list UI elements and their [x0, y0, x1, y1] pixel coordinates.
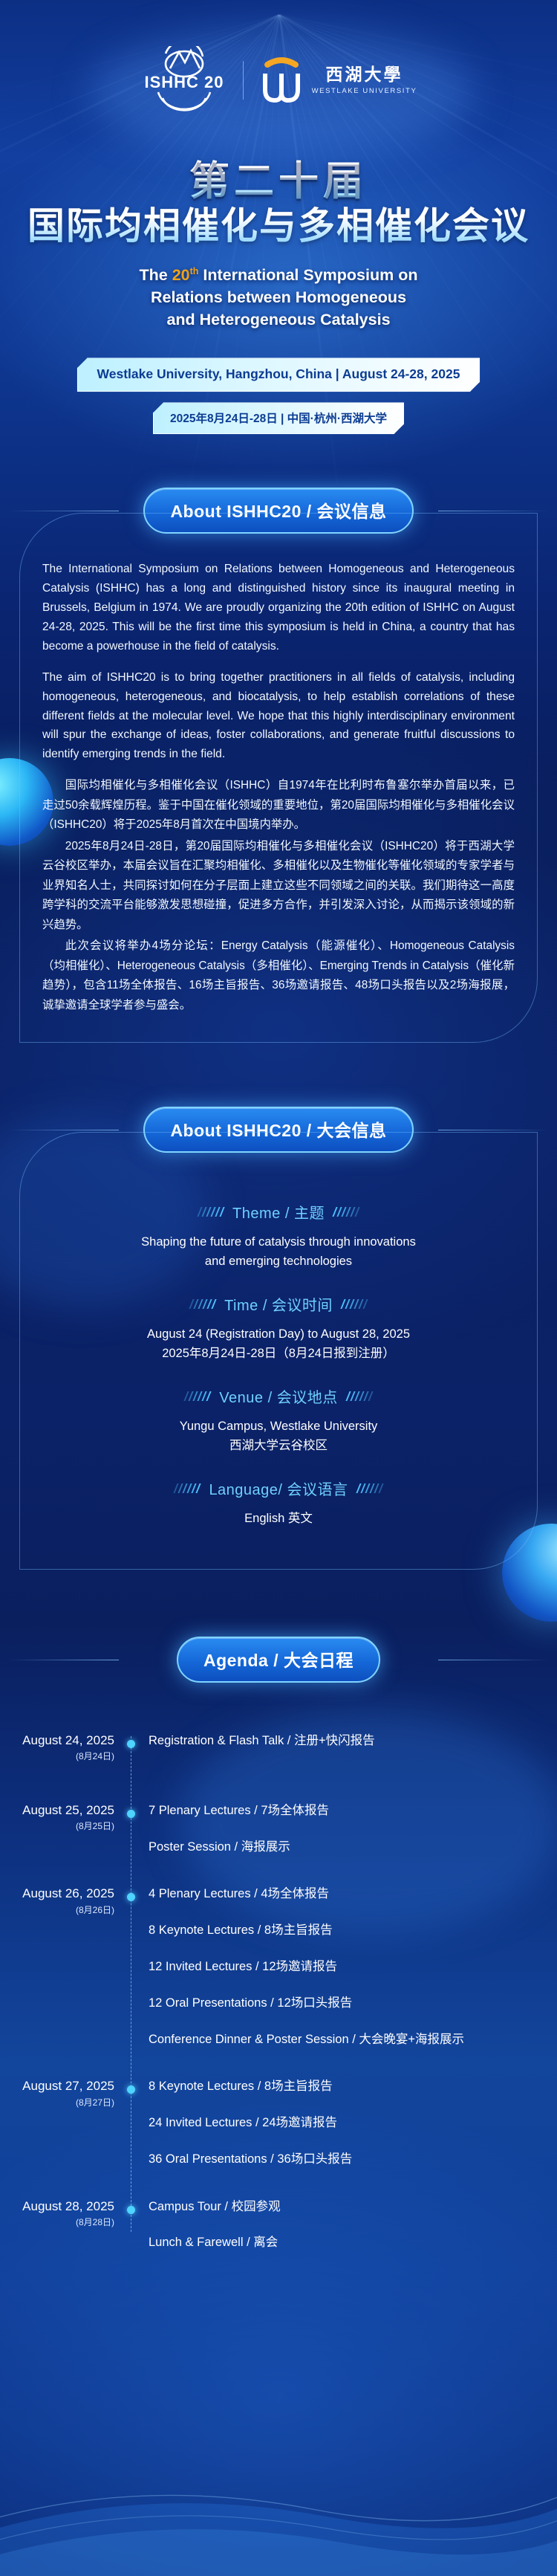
agenda-timeline: August 24, 2025(8月24日)Registration & Fla…: [18, 1723, 539, 2251]
about-paragraph-cn-2: 2025年8月24日-28日，第20届国际均相催化与多相催化会议（ISHHC20…: [42, 837, 515, 935]
title-en-line3: and Heterogeneous Catalysis: [166, 311, 390, 329]
agenda-item: 8 Keynote Lectures / 8场主旨报告: [149, 2078, 539, 2095]
ishhc-globe-icon: ISHHC 20: [140, 46, 228, 114]
agenda-date-cn: (8月25日): [18, 1819, 114, 1832]
info-label-venue: Venue / 会议地点: [42, 1385, 515, 1407]
agenda-item: Registration & Flash Talk / 注册+快闪报告: [149, 1732, 539, 1750]
time-line1: August 24 (Registration Day) to August 2…: [147, 1327, 410, 1341]
info-block-theme: Theme / 主题 Shaping the future of catalys…: [42, 1201, 515, 1271]
info-label-text: Theme / 主题: [232, 1201, 325, 1223]
agenda-item: Conference Dinner & Poster Session / 大会晚…: [149, 2031, 539, 2048]
agenda-date-en: August 27, 2025: [18, 2079, 114, 2094]
agenda-date-cn: (8月28日): [18, 2216, 114, 2228]
conference-info-card: Theme / 主题 Shaping the future of catalys…: [19, 1132, 538, 1570]
info-label-text: Venue / 会议地点: [219, 1385, 337, 1407]
about-paragraph-cn-3: 此次会议将举办4场分论坛：Energy Catalysis（能源催化）、Homo…: [42, 936, 515, 1015]
agenda-section: Agenda / 大会日程 August 24, 2025(8月24日)Regi…: [0, 1637, 557, 2370]
slash-ornament-right: [358, 1483, 382, 1493]
title-english: The 20th International Symposium on Rela…: [0, 265, 557, 331]
westlake-name-en: WESTLAKE UNIVERSITY: [312, 87, 417, 95]
title-chinese-line2: 国际均相催化与多相催化会议: [0, 204, 557, 248]
poster-header: ISHHC 20 西湖大學 WESTLAKE UNIVERSITY 第二十届 国…: [0, 0, 557, 434]
agenda-item: 12 Oral Presentations / 12场口头报告: [149, 1995, 539, 2012]
agenda-day: August 25, 2025(8月25日)7 Plenary Lectures…: [18, 1802, 539, 1856]
westlake-emblem-icon: [258, 54, 304, 106]
venue-date-banners: Westlake University, Hangzhou, China | A…: [0, 357, 557, 434]
agenda-day: August 27, 2025(8月27日)8 Keynote Lectures…: [18, 2077, 539, 2167]
banner-venue-date-en: Westlake University, Hangzhou, China | A…: [77, 357, 481, 392]
agenda-day-items: Campus Tour / 校园参观Lunch & Farewell / 离会: [131, 2198, 539, 2252]
agenda-item: 8 Keynote Lectures / 8场主旨报告: [149, 1922, 539, 1939]
agenda-day-date: August 26, 2025(8月26日): [18, 1885, 131, 1915]
agenda-date-cn: (8月26日): [18, 1903, 114, 1916]
venue-line1: Yungu Campus, Westlake University: [180, 1420, 378, 1433]
agenda-item: 7 Plenary Lectures / 7场全体报告: [149, 1802, 539, 1819]
info-value-language: English 英文: [42, 1509, 515, 1529]
pill-line-right: [438, 1660, 550, 1660]
svg-text:ISHHC 20: ISHHC 20: [144, 73, 224, 91]
venue-line2: 西湖大学云谷校区: [42, 1437, 515, 1456]
agenda-day-date: August 27, 2025(8月27日): [18, 2077, 131, 2108]
conference-info-section: About ISHHC20 / 大会信息 Theme / 主题 Shaping …: [0, 1107, 557, 1570]
about-paragraph-cn-1: 国际均相催化与多相催化会议（ISHHC）自1974年在比利时布鲁塞尔举办首届以来…: [42, 776, 515, 835]
pill-line-right: [438, 511, 550, 511]
about-paragraph-en-2: The aim of ISHHC20 is to bring together …: [42, 668, 515, 764]
info-value-venue: Yungu Campus, Westlake University 西湖大学云谷…: [42, 1417, 515, 1455]
about-card: The International Symposium on Relations…: [19, 513, 538, 1043]
agenda-pill-row: Agenda / 大会日程: [0, 1637, 557, 1683]
pill-line-left: [7, 511, 119, 511]
agenda-day-date: August 25, 2025(8月25日): [18, 1802, 131, 1832]
agenda-day-items: 7 Plenary Lectures / 7场全体报告Poster Sessio…: [131, 1802, 539, 1856]
agenda-date-cn: (8月27日): [18, 2096, 114, 2109]
agenda-item: 4 Plenary Lectures / 4场全体报告: [149, 1886, 539, 1903]
title-en-line2: Relations between Homogeneous: [151, 288, 406, 306]
info-label-language: Language/ 会议语言: [42, 1478, 515, 1499]
info-label-text: Time / 会议时间: [224, 1293, 333, 1315]
slash-ornament-left: [175, 1483, 199, 1493]
pill-line-right: [438, 1130, 550, 1130]
theme-line2: and emerging technologies: [42, 1252, 515, 1272]
edition-number: 20th: [172, 266, 199, 284]
agenda-body: August 24, 2025(8月24日)Registration & Fla…: [0, 1723, 557, 2370]
pill-line-left: [7, 1130, 119, 1130]
info-block-venue: Venue / 会议地点 Yungu Campus, Westlake Univ…: [42, 1385, 515, 1455]
agenda-day: August 26, 2025(8月26日)4 Plenary Lectures…: [18, 1885, 539, 2048]
agenda-day: August 24, 2025(8月24日)Registration & Fla…: [18, 1732, 539, 1772]
about-paragraph-en-1: The International Symposium on Relations…: [42, 560, 515, 656]
westlake-logo: 西湖大學 WESTLAKE UNIVERSITY: [258, 54, 417, 106]
westlake-wordmark: 西湖大學 WESTLAKE UNIVERSITY: [312, 65, 417, 94]
slash-ornament-right: [334, 1207, 358, 1217]
timeline-dot-icon: [127, 1810, 135, 1818]
pill-line-left: [7, 1660, 119, 1660]
agenda-day-date: August 28, 2025(8月28日): [18, 2198, 131, 2228]
agenda-date-cn: (8月24日): [18, 1750, 114, 1762]
agenda-item: 36 Oral Presentations / 36场口头报告: [149, 2151, 539, 2168]
agenda-item: Poster Session / 海报展示: [149, 1839, 539, 1856]
agenda-day-date: August 24, 2025(8月24日): [18, 1732, 131, 1762]
ishhc-logo: ISHHC 20: [140, 46, 228, 114]
info-label-theme: Theme / 主题: [42, 1201, 515, 1223]
theme-line1: Shaping the future of catalysis through …: [141, 1235, 416, 1249]
slash-ornament-left: [191, 1299, 215, 1309]
banner-venue-date-cn: 2025年8月24日-28日 | 中国·杭州·西湖大学: [153, 402, 404, 434]
timeline-dot-icon: [127, 2206, 135, 2214]
time-line2: 2025年8月24日-28日（8月24日报到注册）: [42, 1344, 515, 1364]
agenda-item: 24 Invited Lectures / 24场邀请报告: [149, 2114, 539, 2132]
slash-ornament-right: [348, 1391, 371, 1401]
agenda-date-en: August 26, 2025: [18, 1886, 114, 1901]
info-block-time: Time / 会议时间 August 24 (Registration Day)…: [42, 1293, 515, 1363]
title-en-line1-rest: International Symposium on: [198, 266, 417, 284]
westlake-name-cn: 西湖大學: [325, 65, 403, 84]
info-block-language: Language/ 会议语言 English 英文: [42, 1478, 515, 1529]
agenda-date-en: August 25, 2025: [18, 1803, 114, 1818]
agenda-day-items: 4 Plenary Lectures / 4场全体报告8 Keynote Lec…: [131, 1885, 539, 2048]
language-line1: English 英文: [244, 1512, 313, 1525]
title-en-prefix: The: [140, 266, 172, 284]
bottom-wave-decoration: [0, 2360, 557, 2576]
section-heading-agenda: Agenda / 大会日程: [177, 1637, 380, 1683]
logo-row: ISHHC 20 西湖大學 WESTLAKE UNIVERSITY: [0, 46, 557, 114]
slash-ornament-left: [186, 1391, 209, 1401]
agenda-date-en: August 28, 2025: [18, 2199, 114, 2214]
agenda-date-en: August 24, 2025: [18, 1733, 114, 1748]
agenda-day: August 28, 2025(8月28日)Campus Tour / 校园参观…: [18, 2198, 539, 2252]
agenda-day-items: 8 Keynote Lectures / 8场主旨报告24 Invited Le…: [131, 2077, 539, 2167]
slash-ornament-left: [199, 1207, 223, 1217]
conference-poster: ISHHC 20 西湖大學 WESTLAKE UNIVERSITY 第二十届 国…: [0, 0, 557, 2576]
info-label-text: Language/ 会议语言: [209, 1478, 348, 1499]
info-value-time: August 24 (Registration Day) to August 2…: [42, 1325, 515, 1363]
info-label-time: Time / 会议时间: [42, 1293, 515, 1315]
agenda-item: Lunch & Farewell / 离会: [149, 2234, 539, 2251]
agenda-item: 12 Invited Lectures / 12场邀请报告: [149, 1958, 539, 1975]
info-value-theme: Shaping the future of catalysis through …: [42, 1233, 515, 1271]
slash-ornament-right: [342, 1299, 366, 1309]
about-section: About ISHHC20 / 会议信息 The International S…: [0, 488, 557, 1043]
logo-divider: [243, 61, 244, 100]
title-chinese-line1: 第二十届: [0, 159, 557, 204]
agenda-item: Campus Tour / 校园参观: [149, 2198, 539, 2216]
agenda-day-items: Registration & Flash Talk / 注册+快闪报告: [131, 1732, 539, 1750]
timeline-dot-icon: [127, 1740, 135, 1748]
